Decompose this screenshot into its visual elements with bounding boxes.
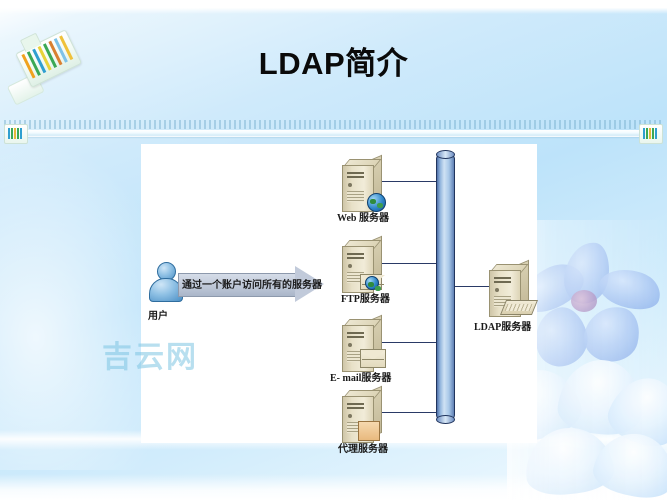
server-slot [347,172,364,174]
envelope-icon [360,349,386,368]
server-slot [347,407,364,409]
arrow-label: 通过一个账户访问所有的服务器 [182,276,300,291]
proxy-box-icon [358,421,380,441]
network-backbone-cylinder [436,153,455,421]
server-slot [347,176,364,178]
server-label-web: Web 服务器 [337,209,389,224]
server-led [495,288,499,292]
server-led [348,264,352,268]
rj45-connector-left-icon [4,124,28,144]
server-led [348,343,352,347]
server-led [348,414,352,418]
server-label-email: E- mail服务器 [330,369,391,384]
server-slot [347,403,364,405]
slide-canvas: LDAP简介 吉云网 用户 [0,0,667,500]
server-slot [347,332,364,334]
server-led [348,183,352,187]
background-top-highlight [0,0,667,14]
globe-icon [365,276,379,290]
wire-ftp-to-backbone [378,263,438,264]
user-avatar [148,262,182,304]
server-slot [347,257,364,259]
server-slot [494,281,511,283]
wire-proxy-to-backbone [378,412,438,413]
keyboard-icon [500,300,538,315]
server-label-ldap: LDAP服务器 [474,318,531,333]
rj45-connector-icon [0,13,101,121]
page-title: LDAP简介 [0,38,667,83]
user-label: 用户 [148,307,168,322]
server-grill [347,191,364,202]
cable-dot-pattern [4,120,663,129]
watermark: 吉云网 [102,332,198,376]
server-icon-ftp [336,238,382,292]
network-cable-divider [18,130,650,137]
server-label-ftp: FTP服务器 [341,290,390,305]
wire-email-to-backbone [378,342,438,343]
rj45-connector-right-icon [639,124,663,144]
server-slot [347,336,364,338]
server-icon-web [336,157,382,211]
server-slot [347,253,364,255]
server-icon-email [336,317,382,371]
wire-web-to-backbone [378,181,438,182]
server-label-proxy: 代理服务器 [338,440,388,455]
backbone-cap-bottom [436,415,455,424]
server-icon-proxy [336,388,382,442]
server-slot [494,277,511,279]
access-arrow: 通过一个账户访问所有的服务器 [178,266,324,302]
backbone-cap-top [436,150,455,159]
server-icon-ldap [483,262,529,316]
